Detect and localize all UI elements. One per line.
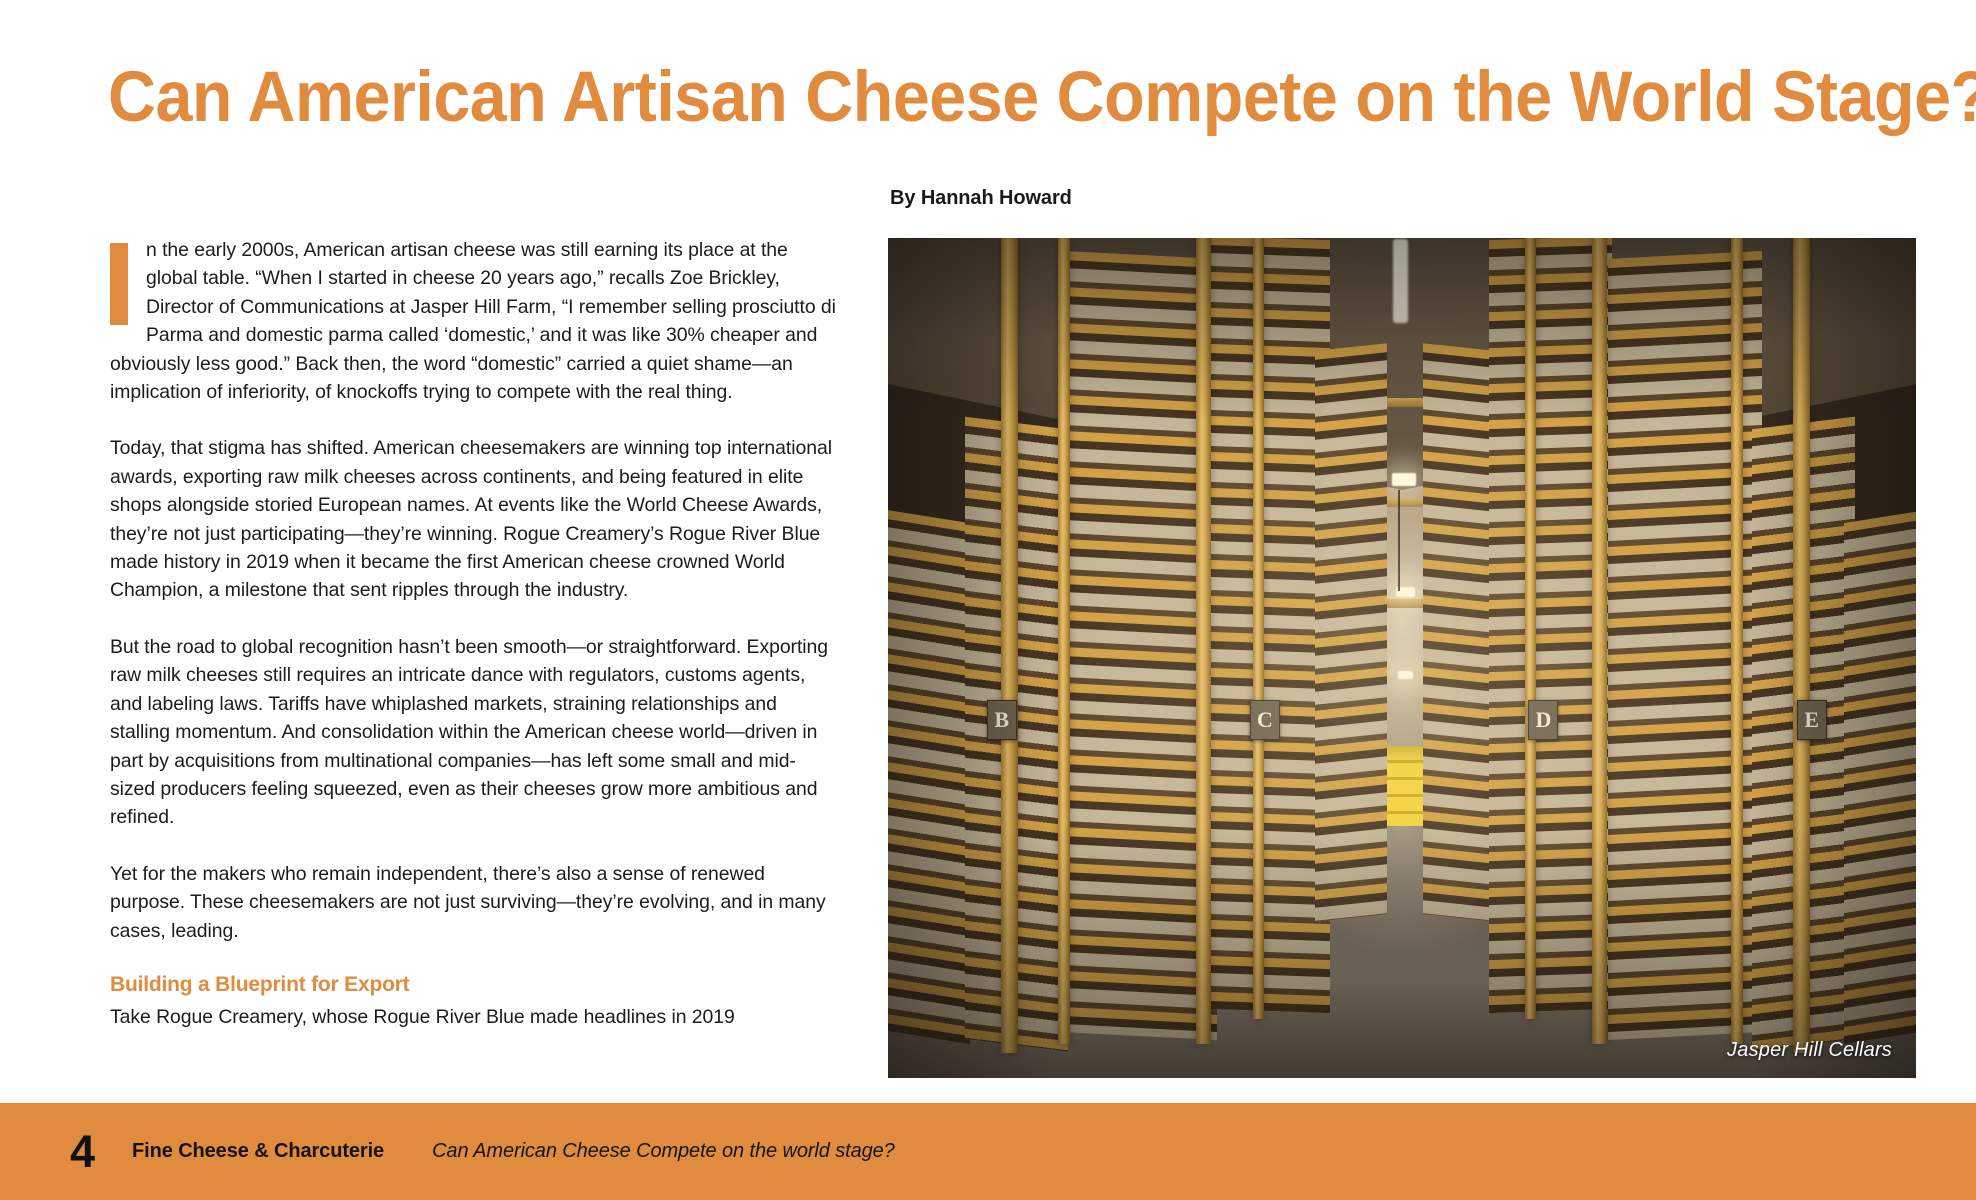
cheese-rack [888, 507, 970, 1044]
drop-cap-letter [110, 243, 128, 325]
page-title: Can American Artisan Cheese Compete on t… [108, 58, 1782, 138]
ceiling-lamp [1398, 671, 1413, 679]
paragraph-4: Yet for the makers who remain independen… [110, 860, 840, 945]
cheese-rack [1423, 343, 1495, 922]
footer-running-title: Can American Cheese Compete on the world… [432, 1140, 895, 1163]
article-body-column: n the early 2000s, American artisan chee… [110, 236, 840, 1076]
rack-post [1793, 238, 1810, 1053]
rack-post [1525, 238, 1536, 1019]
paragraph-1-text: n the early 2000s, American artisan chee… [110, 239, 836, 403]
rack-post [1001, 238, 1018, 1053]
paragraph-1: n the early 2000s, American artisan chee… [110, 236, 840, 406]
photo-credit-caption: Jasper Hill Cellars [1727, 1039, 1892, 1062]
shelf-label-d: D [1528, 700, 1558, 740]
shelf-label-e: E [1797, 700, 1827, 740]
article-photo: B C D E Jasper Hill Cellars [888, 238, 1916, 1078]
rack-post [1196, 238, 1211, 1044]
shelf-label-c: C [1250, 700, 1280, 740]
footer-page-number: 4 [70, 1129, 94, 1174]
byline: By Hannah Howard [890, 187, 1072, 210]
cheese-rack [1207, 238, 1330, 1013]
footer-publication-name: Fine Cheese & Charcuterie [132, 1140, 384, 1163]
cheese-rack [1844, 507, 1916, 1044]
paragraph-5: Take Rogue Creamery, whose Rogue River B… [110, 1003, 840, 1031]
paragraph-2: Today, that stigma has shifted. American… [110, 434, 840, 604]
rack-post [1253, 238, 1264, 1019]
rack-post [1731, 238, 1743, 1044]
page-footer: 4 Fine Cheese & Charcuterie Can American… [0, 1103, 1976, 1200]
ceiling-skylight [1393, 239, 1408, 323]
cheese-rack [1063, 251, 1217, 1040]
section-subheading: Building a Blueprint for Export [110, 973, 840, 997]
lamp-cord [1398, 490, 1400, 591]
cheese-rack [1315, 343, 1387, 922]
ceiling-lamp [1392, 473, 1417, 486]
paragraph-3: But the road to global recognition hasn’… [110, 633, 840, 832]
rack-post [1592, 238, 1607, 1044]
shelf-label-b: B [987, 700, 1017, 740]
rack-post [1058, 238, 1070, 1044]
cellar-photo-illustration: B C D E [888, 238, 1916, 1078]
